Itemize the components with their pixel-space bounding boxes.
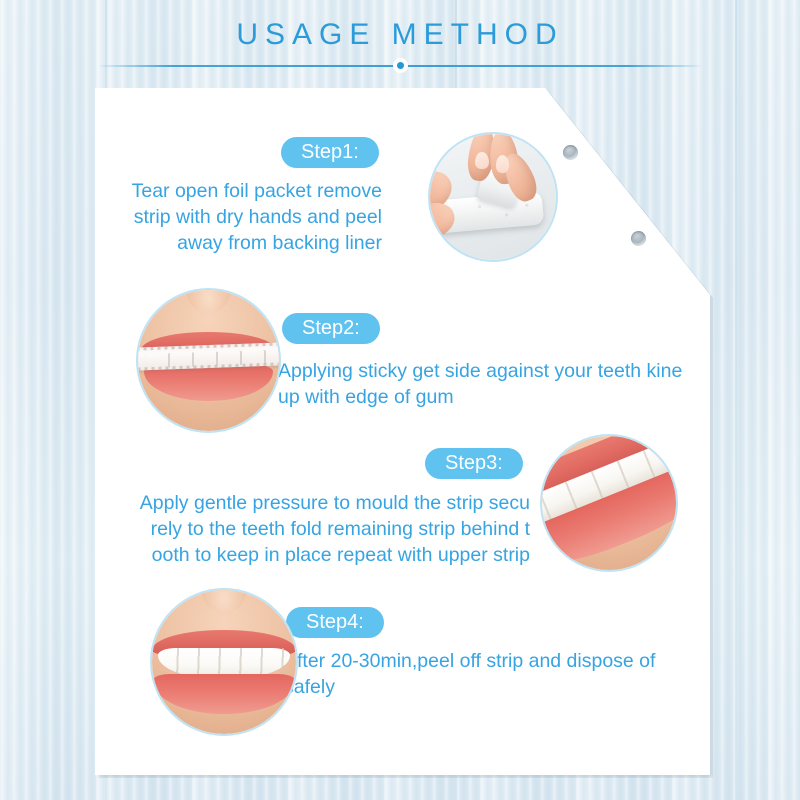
page-title: USAGE METHOD bbox=[0, 18, 800, 52]
step4-photo bbox=[150, 588, 298, 736]
hole-punch-icon bbox=[563, 145, 578, 160]
step4-badge: Step4: bbox=[286, 607, 384, 638]
step4-text: After 20-30min,peel off strip and dispos… bbox=[284, 648, 684, 700]
hole-punch-icon bbox=[631, 231, 646, 246]
step3-photo bbox=[540, 434, 678, 572]
usage-method-infographic: USAGE METHOD Step1: Tear open foil packe… bbox=[0, 0, 800, 800]
step3-text: Apply gentle pressure to mould the strip… bbox=[112, 490, 530, 568]
title-divider-dot bbox=[393, 58, 408, 73]
background-seam bbox=[735, 0, 737, 800]
step3-badge: Step3: bbox=[425, 448, 523, 479]
step1-badge: Step1: bbox=[281, 137, 379, 168]
step2-photo bbox=[136, 288, 281, 433]
step2-text: Applying sticky get side against your te… bbox=[278, 358, 698, 410]
step1-text: Tear open foil packet remove strip with … bbox=[110, 178, 382, 256]
step1-photo bbox=[428, 132, 558, 262]
step2-badge: Step2: bbox=[282, 313, 380, 344]
